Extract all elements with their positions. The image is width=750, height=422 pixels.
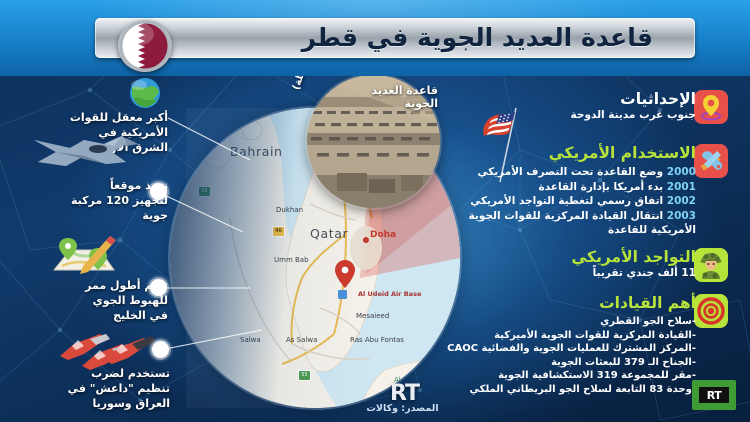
left-bullet-4-line-3: العراق وسوريا <box>30 396 170 411</box>
map-pin-icon <box>694 90 728 124</box>
timeline-year-1: 2000 <box>667 166 696 178</box>
globe-icon <box>128 76 162 110</box>
timeline-row-2: 2001 بدء أمريكا بإدارة القاعدة <box>446 180 696 195</box>
left-bullet-3-line-1: تضم أطول ممر <box>38 278 168 293</box>
rt-badge-label: RT <box>699 387 729 403</box>
command-item-1: -سلاح الجو القطري <box>416 315 696 329</box>
timeline-row-3: 2002 اتفاق رسمي لتغطية التواجد الأمريكي <box>446 194 696 209</box>
section-american-presence-heading: التواجد الأمريكي <box>496 248 696 266</box>
connector-dot-2[interactable] <box>150 183 167 200</box>
left-bullet-2-line-1: تتخذ موقعاً <box>38 178 168 193</box>
command-item-4: -الجناح الـ 379 للبعثات الجوية <box>416 356 696 370</box>
timeline-event-1: وضع القاعدة تحت التصرف الأمريكي <box>478 166 664 178</box>
section-american-use: الاستخدام الأمريكي 2000 وضع القاعدة تحت … <box>446 144 696 238</box>
soldier-icon <box>694 248 728 282</box>
left-bullet-4-line-1: تستخدم لضرب <box>30 366 170 381</box>
left-bullet-3-line-3: في الخليج <box>38 308 168 323</box>
tools-wrench-screwdriver-icon <box>694 144 728 178</box>
target-bullseye-icon <box>694 294 728 328</box>
map-pin-runway-icon <box>48 232 120 280</box>
command-item-5: -مقر للمجموعة 319 الاستكشافية الجوية <box>416 369 696 383</box>
source-text: المصدر: وكالات <box>355 403 450 414</box>
fighter-jet-icon <box>26 118 144 180</box>
connector-dot-3[interactable] <box>150 279 167 296</box>
left-bullet-3-line-2: للهبوط الجوي <box>38 293 168 308</box>
left-bullet-2-text: تتخذ موقعاً لتجهيز 120 مركبة جوية <box>38 178 168 223</box>
left-bullet-2-line-2: لتجهيز 120 مركبة <box>38 193 168 208</box>
timeline-row-4-tail: الأمريكية للقاعدة <box>446 223 696 238</box>
timeline-event-2: بدء أمريكا بإدارة القاعدة <box>539 181 664 193</box>
timeline-year-4: 2003 <box>667 210 696 222</box>
timeline-row-4: 2003 انتقال القيادة المركزية للقوات الجو… <box>446 209 696 224</box>
timeline-row-1: 2000 وضع القاعدة تحت التصرف الأمريكي <box>446 165 696 180</box>
page-title: قاعدة العديد الجوية في قطر <box>95 18 673 58</box>
timeline-event-4: انتقال القيادة المركزية للقوات الجوية <box>469 210 664 222</box>
section-american-presence: التواجد الأمريكي 11 ألف جندي تقريباً <box>496 248 696 280</box>
timeline-year-2: 2001 <box>667 181 696 193</box>
section-american-presence-line-1: 11 ألف جندي تقريباً <box>496 266 696 280</box>
left-bullet-2-line-3: جوية <box>38 208 168 223</box>
left-bullet-3-text: تضم أطول ممر للهبوط الجوي في الخليج <box>38 278 168 323</box>
timeline-event-3: اتفاق رسمي لتغطية التواجد الأمريكي <box>470 195 663 207</box>
section-coordinates: الإحداثيات جنوب غرب مدينة الدوحة <box>516 90 696 122</box>
section-american-use-heading: الاستخدام الأمريكي <box>446 144 696 162</box>
left-bullet-4-line-2: تنظيم "داعش" في <box>30 381 170 396</box>
command-item-3: -المركز المشترك للعمليات الجوية والفضائي… <box>416 342 696 356</box>
qatar-flag-icon <box>118 20 172 72</box>
section-coordinates-heading: الإحداثيات <box>516 90 696 108</box>
infographic-root: Bahrain Qatar Doha Al Udeid Air Base Mes… <box>0 0 750 422</box>
photo-caption: قاعدة العديد الجوية <box>348 84 438 110</box>
section-coordinates-line-1: جنوب غرب مدينة الدوحة <box>516 108 696 122</box>
left-bullet-4-text: تستخدم لضرب تنظيم "داعش" في العراق وسوري… <box>30 366 170 411</box>
rt-badge: RT <box>692 380 736 410</box>
command-item-2: -القيادة المركزية للقوات الجوية الأميركي… <box>416 329 696 343</box>
section-commands: أهم القيادات -سلاح الجو القطري -القيادة … <box>416 294 696 397</box>
timeline-year-3: 2002 <box>667 195 696 207</box>
section-commands-heading: أهم القيادات <box>416 294 696 312</box>
command-item-6: -وحدة 83 التابعة لسلاح الجو البريطاني ال… <box>416 383 696 397</box>
connector-dot-4[interactable] <box>152 341 169 358</box>
